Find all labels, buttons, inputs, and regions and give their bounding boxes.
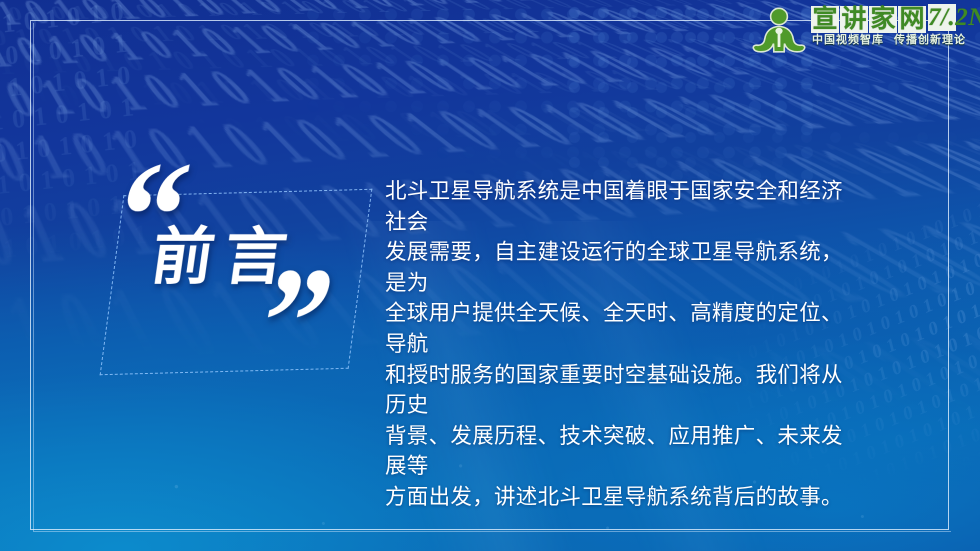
logo-subtitle: 中国视频智库 传播创新理论 [811, 34, 966, 46]
body-line: 背景、发展历程、技术突破、应用推广、未来发展等 [385, 421, 855, 482]
page-title: 前言 [148, 226, 301, 290]
logo-char-4: 网 [898, 6, 926, 33]
body-line: 发展需要，自主建设运行的全球卫星导航系统，是为 [385, 237, 855, 298]
speaker-person-icon [751, 6, 807, 56]
body-line: 北斗卫星导航系统是中国着眼于国家安全和经济社会 [385, 176, 855, 237]
body-paragraph: 北斗卫星导航系统是中国着眼于国家安全和经济社会 发展需要，自主建设运行的全球卫星… [385, 176, 855, 513]
presentation-slide: 1010101010101010101010101010101010101010… [0, 0, 980, 551]
logo-char-2: 讲 [840, 6, 868, 33]
body-line: 全球用户提供全天候、全天时、高精度的定位、导航 [385, 298, 855, 359]
body-line: 和授时服务的国家重要时空基础设施。我们将从历史 [385, 360, 855, 421]
body-line: 方面出发，讲述北斗卫星导航系统背后的故事。 [385, 482, 855, 513]
logo-char-1: 宣 [811, 6, 839, 33]
logo-pinyin: 7/.2N [928, 4, 956, 31]
headline-block: “ ” 前言 [104, 168, 394, 390]
logo-characters: 宣 讲 家 网 7/.2N [811, 4, 956, 33]
logo-subtitle-right: 传播创新理论 [894, 34, 966, 46]
site-logo[interactable]: 宣 讲 家 网 7/.2N 中国视频智库 传播创新理论 [751, 4, 966, 56]
logo-wordmark: 宣 讲 家 网 7/.2N 中国视频智库 传播创新理论 [811, 4, 966, 46]
logo-char-3: 家 [869, 6, 897, 33]
logo-subtitle-left: 中国视频智库 [812, 34, 884, 46]
